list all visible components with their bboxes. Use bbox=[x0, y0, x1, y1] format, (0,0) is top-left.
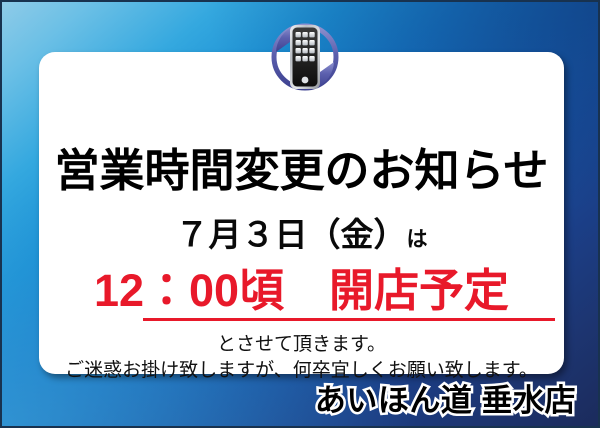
body-line-2: ご迷惑お掛け致しますが、何卒宜しくお願い致します。 bbox=[39, 359, 564, 383]
opening-time-highlight: 12：00頃 開店予定 bbox=[39, 265, 564, 317]
shop-name: あいほん道 垂水店 bbox=[315, 382, 576, 420]
page-title: 営業時間変更のお知らせ bbox=[39, 146, 564, 196]
date-line: ７月３日（金）は bbox=[39, 216, 564, 259]
notice-poster: 営業時間変更のお知らせ ７月３日（金）は 12：00頃 開店予定 とさせて頂きま… bbox=[0, 0, 600, 428]
highlight-underline bbox=[143, 318, 555, 321]
smartphone-refresh-icon bbox=[260, 12, 350, 102]
body-line-1: とさせて頂きます。 bbox=[39, 333, 564, 357]
date-value: ７月３日（金） bbox=[176, 216, 407, 253]
date-particle: は bbox=[407, 228, 428, 251]
